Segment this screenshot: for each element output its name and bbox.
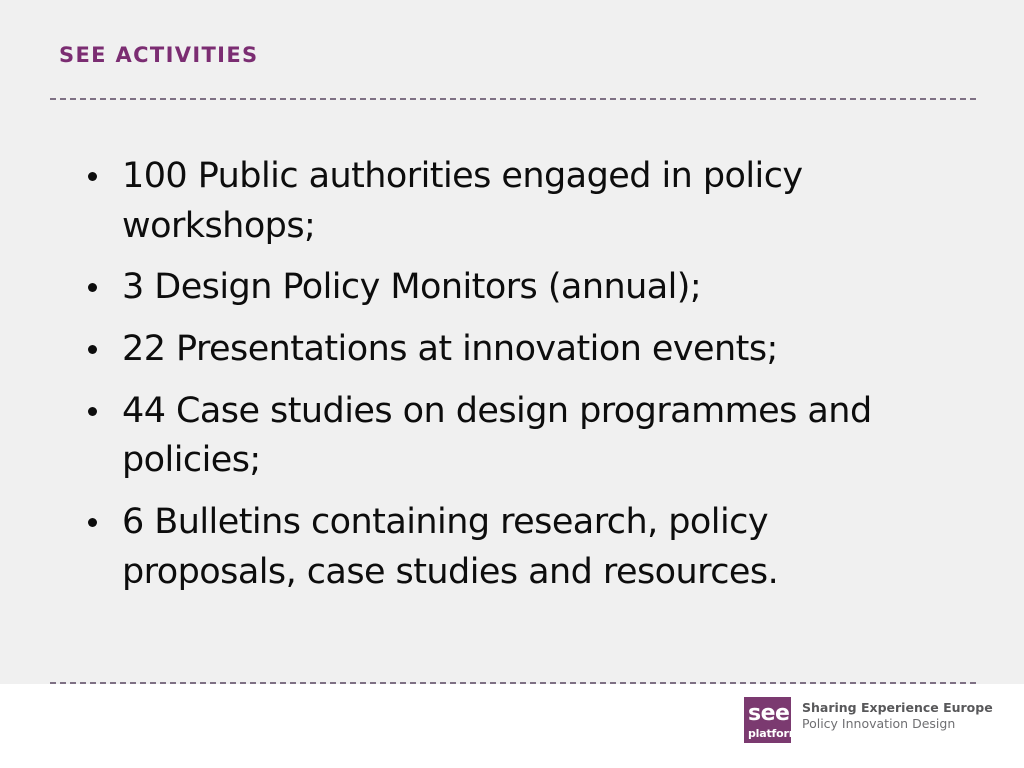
list-item-label: 6 Bulletins containing research, policy … — [122, 498, 910, 597]
list-item: 6 Bulletins containing research, policy … — [80, 498, 910, 597]
page-title: SEE ACTIVITIES — [59, 45, 259, 66]
list-item: 3 Design Policy Monitors (annual); — [80, 263, 910, 313]
list-item: 22 Presentations at innovation events; — [80, 325, 910, 375]
list-item-label: 3 Design Policy Monitors (annual); — [122, 263, 910, 313]
activities-bullet-list: 100 Public authorities engaged in policy… — [80, 152, 910, 610]
bullet-dot-icon — [88, 407, 97, 416]
logo-mark-see-text: see — [748, 703, 789, 725]
list-item: 44 Case studies on design programmes and… — [80, 387, 910, 486]
logo-wordmark: Sharing Experience Europe Policy Innovat… — [802, 697, 993, 731]
list-item-label: 100 Public authorities engaged in policy… — [122, 152, 910, 251]
list-item-label: 44 Case studies on design programmes and… — [122, 387, 910, 486]
bullet-dot-icon — [88, 283, 97, 292]
divider-bottom — [50, 682, 976, 684]
list-item: 100 Public authorities engaged in policy… — [80, 152, 910, 251]
bullet-dot-icon — [88, 518, 97, 527]
logo-tagline-secondary: Policy Innovation Design — [802, 716, 993, 732]
bullet-dot-icon — [88, 345, 97, 354]
bullet-dot-icon — [88, 172, 97, 181]
logo-tagline-primary: Sharing Experience Europe — [802, 700, 993, 716]
list-item-label: 22 Presentations at innovation events; — [122, 325, 910, 375]
presentation-slide: SEE ACTIVITIES 100 Public authorities en… — [0, 0, 1024, 768]
logo-mark-platform-text: platform — [748, 728, 800, 739]
divider-top — [50, 98, 976, 100]
logo-mark-box: see platform — [744, 697, 791, 743]
see-platform-logo: see platform Sharing Experience Europe P… — [744, 697, 993, 743]
